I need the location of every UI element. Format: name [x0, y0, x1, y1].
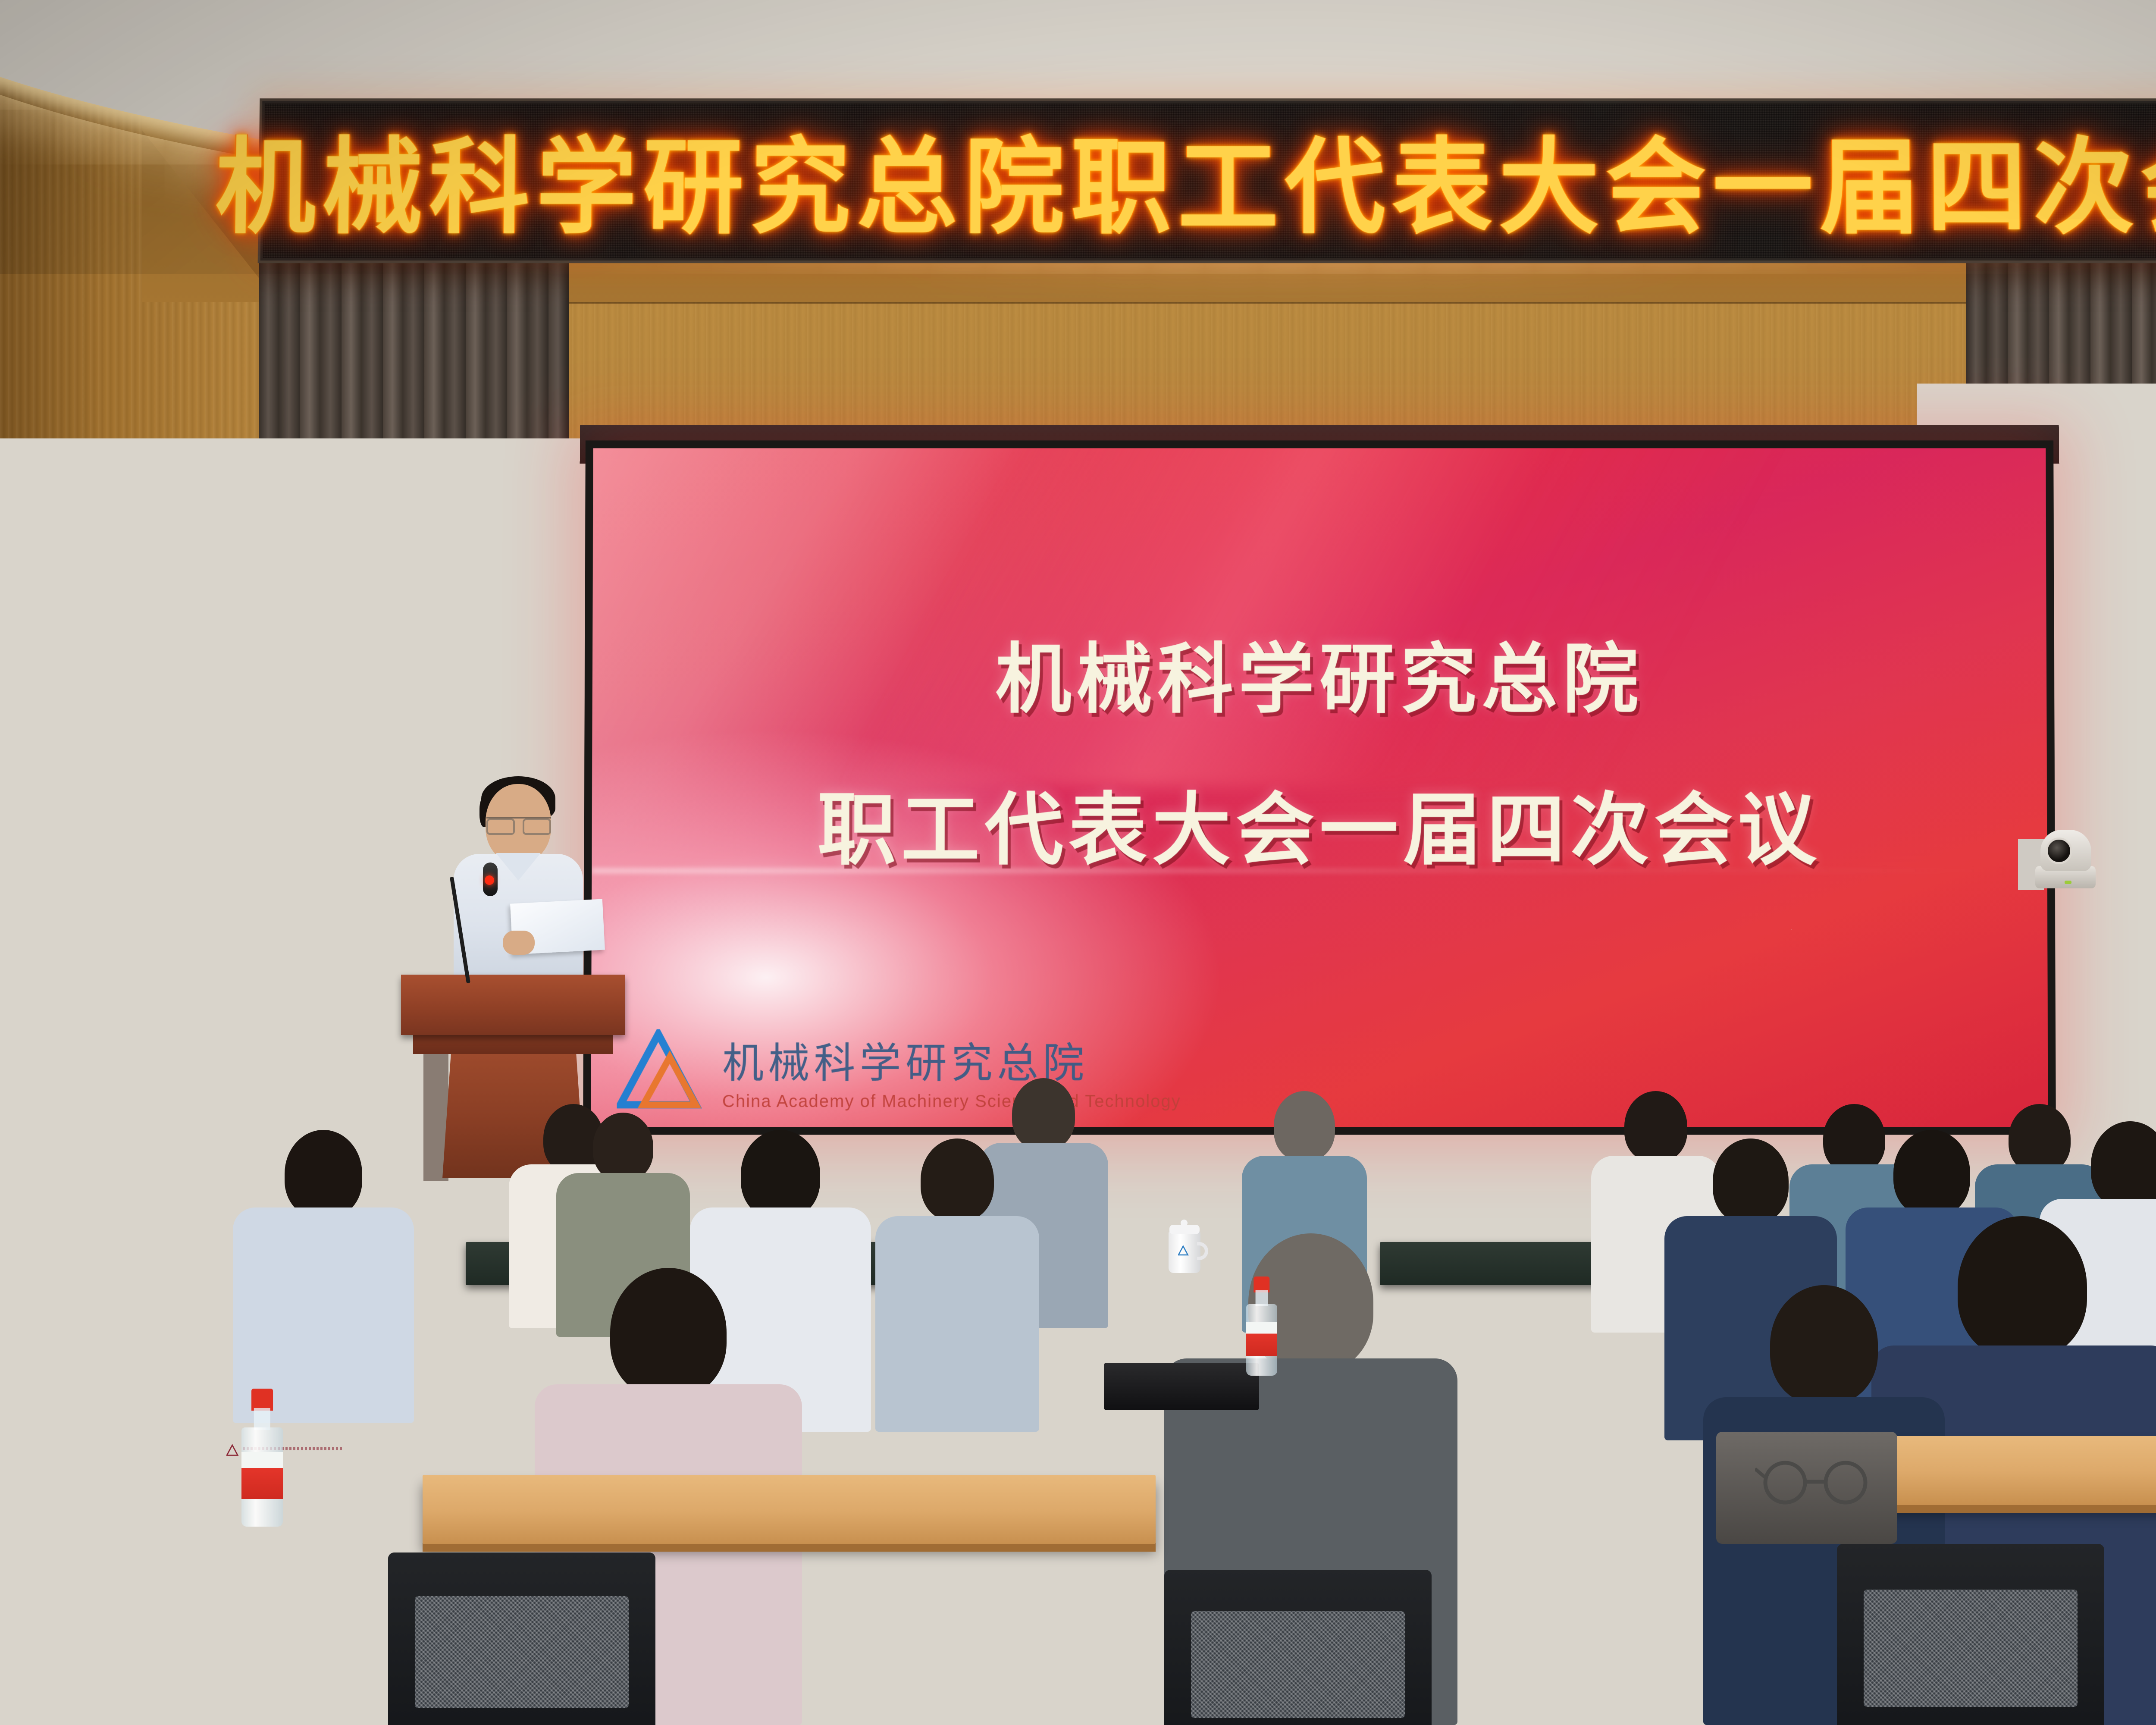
water-bottle — [241, 1389, 283, 1527]
institute-name-en: China Academy of Machinery Science and T… — [722, 1092, 1181, 1111]
screen-title-line1: 机械科学研究总院 — [995, 618, 1644, 728]
glasses-icon — [486, 817, 551, 830]
screen-title-line2: 职工代表大会一届四次会议 — [817, 766, 1821, 880]
led-banner: 机械科学研究总院职工代表大会一届四次会议 — [258, 98, 2156, 263]
tea-mug — [1169, 1225, 1208, 1273]
table-row-front-center — [423, 1475, 1156, 1544]
attendee-person — [233, 1130, 414, 1423]
institute-name-cn: 机械科学研究总院 — [722, 1029, 1181, 1089]
water-bottle — [1246, 1276, 1277, 1376]
speaker-hand — [503, 931, 535, 955]
camera-status-led — [2065, 881, 2071, 884]
eyeglasses-icon — [1755, 1458, 1884, 1505]
speaker-person — [431, 772, 604, 988]
laptop — [1104, 1363, 1259, 1410]
camera-lens-icon — [2046, 837, 2072, 864]
podium-top — [401, 975, 625, 1035]
conference-hall-scene: 机械科学研究总院职工代表大会一届四次会议 机械科学研究总院 职工代表大会一届四次… — [0, 0, 2156, 1725]
name-plate-text: 生 — [217, 1464, 352, 1518]
projection-screen: 机械科学研究总院 职工代表大会一届四次会议 机械科学研究总院 China Aca… — [583, 440, 2056, 1135]
ptz-camera-icon — [2018, 819, 2100, 893]
table-row-front-right — [1854, 1436, 2156, 1505]
podium-lip — [413, 1034, 613, 1054]
mug-logo-icon — [1178, 1245, 1189, 1256]
table-foreground — [0, 1647, 2156, 1725]
led-panel: 机械科学研究总院职工代表大会一届四次会议 — [263, 103, 2156, 258]
institute-triangle-icon — [617, 1029, 708, 1112]
attendee-person — [875, 1138, 1039, 1432]
name-plate: 生 — [216, 1436, 354, 1522]
led-banner-text: 机械科学研究总院职工代表大会一届四次会议 — [215, 103, 2156, 253]
screen-title-block: 机械科学研究总院 职工代表大会一届四次会议 — [592, 618, 2047, 880]
microphone-indicator-led — [485, 875, 494, 885]
